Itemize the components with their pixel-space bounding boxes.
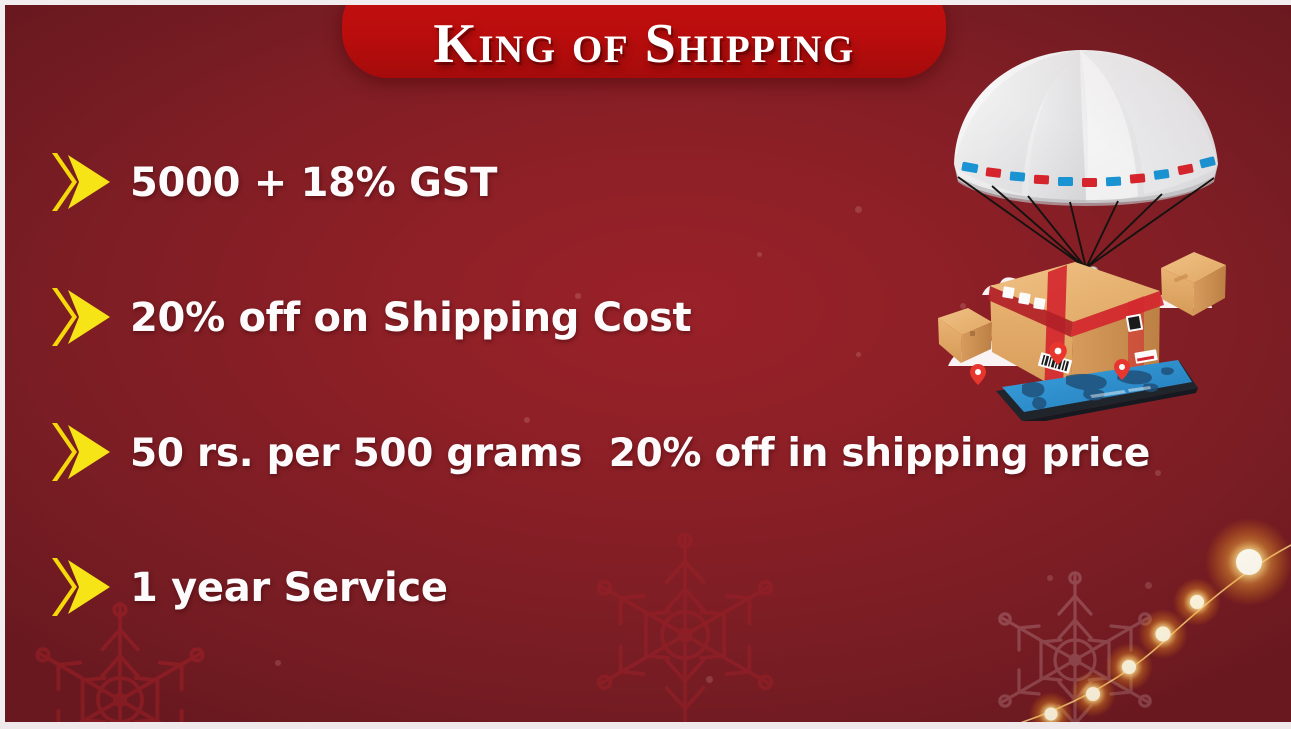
left-edge-strip (0, 0, 5, 729)
double-chevron-arrow-icon (46, 417, 118, 489)
double-chevron-arrow-icon (46, 147, 118, 219)
double-chevron-arrow-icon (46, 552, 118, 624)
offer-label: 50 rs. per 500 grams 20% off in shipping… (130, 434, 1150, 473)
double-chevron-arrow-icon (46, 282, 118, 354)
offer-label: 1 year Service (130, 568, 448, 608)
list-item: 1 year Service (46, 553, 1226, 623)
offer-label: 20% off on Shipping Cost (130, 298, 691, 338)
offer-list: 5000 + 18% GST 20% off on Shipping Cost … (46, 148, 1226, 623)
offer-label: 5000 + 18% GST (130, 163, 497, 203)
title-plate: King of Shipping (342, 0, 946, 78)
promotional-banner: King of Shipping 5000 + 18% GST 20% off … (0, 0, 1291, 729)
list-item: 50 rs. per 500 grams 20% off in shipping… (46, 418, 1226, 488)
list-item: 20% off on Shipping Cost (46, 283, 1226, 353)
top-edge-strip (0, 0, 1291, 5)
page-title: King of Shipping (433, 16, 854, 72)
list-item: 5000 + 18% GST (46, 148, 1226, 218)
bottom-edge-strip (0, 722, 1291, 729)
